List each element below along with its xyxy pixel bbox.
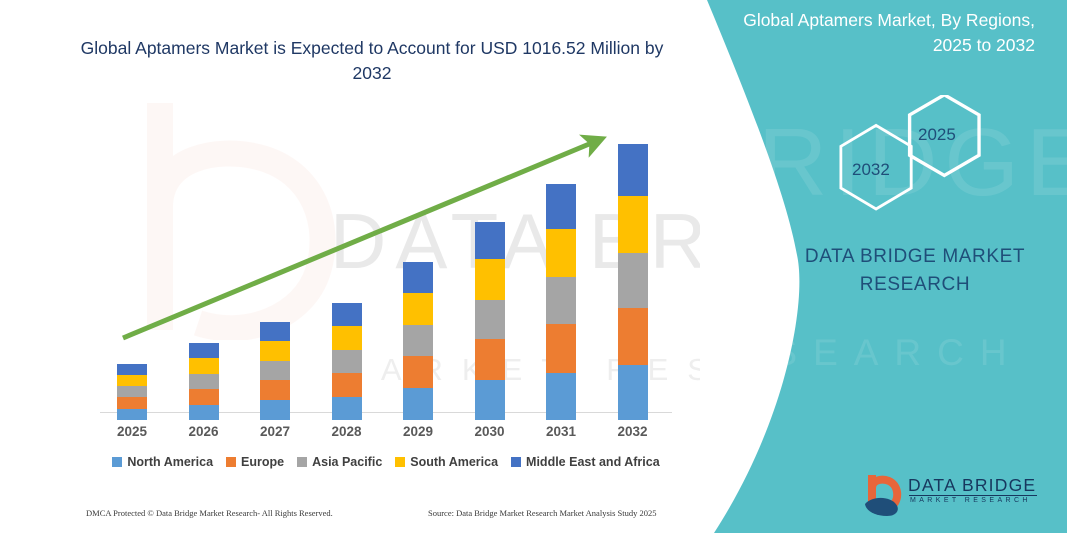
logo-wordmark: DATA BRIDGE	[908, 475, 1036, 496]
bar-2025	[117, 364, 147, 420]
bar-segment	[546, 324, 576, 373]
x-axis-label-2032: 2032	[603, 424, 663, 439]
bar-segment	[332, 326, 362, 350]
bar-segment	[189, 405, 219, 420]
infographic-canvas: DATA BRIDGE MARKET RESEARCH Global Aptam…	[0, 0, 1067, 533]
bar-segment	[117, 409, 147, 420]
footer-source: Source: Data Bridge Market Research Mark…	[428, 508, 657, 518]
chart-title: Global Aptamers Market is Expected to Ac…	[72, 36, 672, 86]
x-axis-label-2025: 2025	[102, 424, 162, 439]
bar-segment	[332, 303, 362, 326]
stacked-bar-chart	[100, 120, 675, 420]
bar-segment	[403, 293, 433, 325]
legend-label: Europe	[241, 455, 284, 469]
bar-2032	[618, 144, 648, 420]
legend-item-asia-pacific[interactable]: Asia Pacific	[297, 455, 382, 469]
bar-segment	[403, 356, 433, 388]
hexagon-label-2025: 2025	[918, 125, 956, 145]
svg-text:RESEARCH: RESEARCH	[689, 332, 1023, 373]
bar-segment	[117, 386, 147, 397]
bar-segment	[618, 365, 648, 420]
legend-item-north-america[interactable]: North America	[112, 455, 213, 469]
bar-segment	[117, 375, 147, 386]
chart-legend: North AmericaEuropeAsia PacificSouth Ame…	[100, 455, 672, 469]
bar-2028	[332, 303, 362, 420]
bar-segment	[403, 262, 433, 293]
legend-item-middle-east-and-africa[interactable]: Middle East and Africa	[511, 455, 660, 469]
x-axis-label-2027: 2027	[245, 424, 305, 439]
bar-segment	[260, 400, 290, 420]
data-bridge-logo: DATA BRIDGE MARKET RESEARCH	[862, 472, 1042, 520]
bar-segment	[260, 341, 290, 361]
panel-brand-text: DATA BRIDGE MARKET RESEARCH	[770, 243, 1060, 299]
legend-swatch-icon	[395, 457, 405, 467]
legend-label: Middle East and Africa	[526, 455, 660, 469]
bar-segment	[260, 322, 290, 341]
bar-segment	[475, 222, 505, 259]
bar-segment	[260, 380, 290, 400]
db-mark-icon	[862, 472, 906, 518]
bar-segment	[618, 253, 648, 308]
legend-label: North America	[127, 455, 213, 469]
legend-label: South America	[410, 455, 498, 469]
legend-item-europe[interactable]: Europe	[226, 455, 284, 469]
bar-segment	[189, 343, 219, 358]
footer-copyright: DMCA Protected © Data Bridge Market Rese…	[86, 508, 333, 518]
bar-segment	[189, 374, 219, 389]
legend-swatch-icon	[112, 457, 122, 467]
bar-2029	[403, 262, 433, 420]
x-axis-label-2026: 2026	[174, 424, 234, 439]
chart-x-axis-labels: 20252026202720282029203020312032	[100, 424, 672, 444]
legend-swatch-icon	[226, 457, 236, 467]
bar-2030	[475, 222, 505, 420]
bar-segment	[618, 308, 648, 365]
logo-subtitle: MARKET RESEARCH	[910, 497, 1031, 504]
legend-item-south-america[interactable]: South America	[395, 455, 498, 469]
bar-segment	[332, 397, 362, 420]
bar-segment	[546, 229, 576, 277]
panel-title: Global Aptamers Market, By Regions, 2025…	[715, 8, 1035, 58]
logo-divider	[909, 495, 1037, 496]
x-axis-label-2028: 2028	[317, 424, 377, 439]
bar-2031	[546, 184, 576, 420]
bar-segment	[332, 373, 362, 397]
bar-segment	[618, 196, 648, 253]
bar-segment	[475, 259, 505, 300]
bar-segment	[332, 350, 362, 373]
hexagon-label-2032: 2032	[852, 160, 890, 180]
bar-2027	[260, 322, 290, 420]
legend-swatch-icon	[511, 457, 521, 467]
bar-segment	[546, 184, 576, 229]
bar-2026	[189, 343, 219, 420]
bar-segment	[475, 339, 505, 380]
bar-segment	[475, 380, 505, 420]
bar-segment	[117, 397, 147, 409]
bar-segment	[546, 277, 576, 324]
legend-label: Asia Pacific	[312, 455, 382, 469]
bar-segment	[189, 358, 219, 374]
legend-swatch-icon	[297, 457, 307, 467]
bar-segment	[475, 300, 505, 339]
bar-segment	[546, 373, 576, 420]
bar-segment	[403, 388, 433, 420]
bar-segment	[618, 144, 648, 196]
bar-segment	[117, 364, 147, 375]
hexagon-outline-icon	[820, 95, 1040, 215]
x-axis-label-2030: 2030	[460, 424, 520, 439]
hexagon-group: 2025 2032	[820, 95, 1040, 215]
x-axis-label-2029: 2029	[388, 424, 448, 439]
bar-segment	[260, 361, 290, 380]
x-axis-label-2031: 2031	[531, 424, 591, 439]
bar-segment	[403, 325, 433, 356]
bar-segment	[189, 389, 219, 405]
